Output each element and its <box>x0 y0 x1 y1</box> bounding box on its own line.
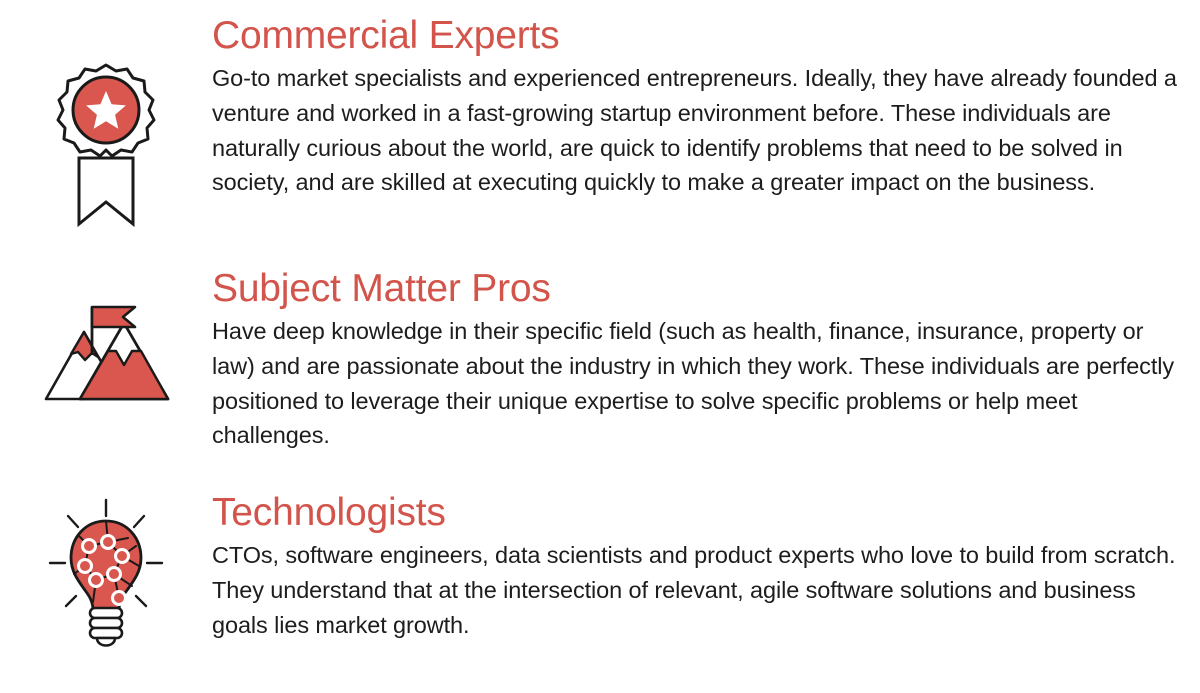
icon-column <box>0 493 212 654</box>
section-body: Have deep knowledge in their specific fi… <box>212 314 1182 453</box>
icon-column <box>0 16 212 234</box>
section-title: Commercial Experts <box>212 16 1182 55</box>
section-body: Go-to market specialists and experienced… <box>212 61 1182 200</box>
text-column: Commercial Experts Go-to market speciali… <box>212 16 1200 200</box>
section-title: Technologists <box>212 493 1182 532</box>
award-medal-ribbon-icon <box>45 62 167 234</box>
mountain-flag-summit-icon <box>38 299 174 409</box>
icon-column <box>0 269 212 409</box>
text-column: Technologists CTOs, software engineers, … <box>212 493 1200 642</box>
text-column: Subject Matter Pros Have deep knowledge … <box>212 269 1200 453</box>
section-body: CTOs, software engineers, data scientist… <box>212 538 1182 642</box>
section-subject-matter-pros: Subject Matter Pros Have deep knowledge … <box>0 269 1200 453</box>
lightbulb-network-idea-icon <box>44 494 168 654</box>
section-title: Subject Matter Pros <box>212 269 1182 308</box>
expert-profiles-page: Commercial Experts Go-to market speciali… <box>0 0 1200 693</box>
section-technologists: Technologists CTOs, software engineers, … <box>0 493 1200 654</box>
section-commercial-experts: Commercial Experts Go-to market speciali… <box>0 16 1200 234</box>
